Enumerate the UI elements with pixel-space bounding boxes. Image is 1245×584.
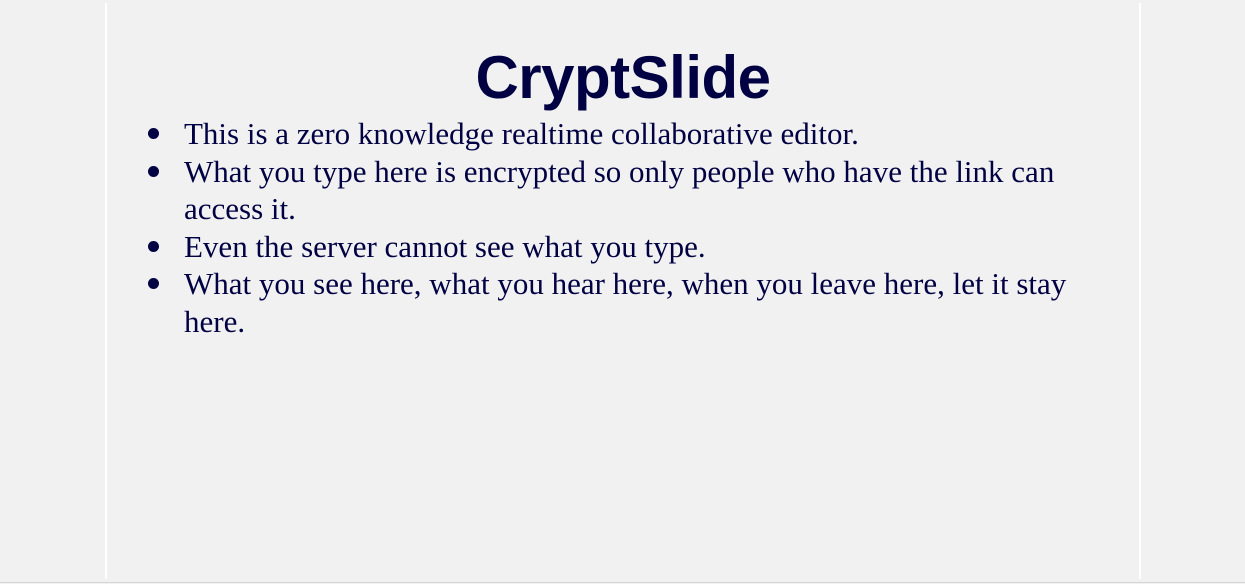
slide-canvas[interactable]: CryptSlide This is a zero knowledge real…: [107, 3, 1139, 579]
slide-right-edge: [1139, 3, 1141, 579]
bullet-text: What you see here, what you hear here, w…: [184, 265, 1130, 340]
bullet-dot-icon: [148, 241, 159, 252]
bullet-text: What you type here is encrypted so only …: [184, 153, 1130, 228]
bullet-text: Even the server cannot see what you type…: [184, 228, 1130, 266]
list-item[interactable]: What you see here, what you hear here, w…: [140, 265, 1130, 340]
list-item[interactable]: This is a zero knowledge realtime collab…: [140, 115, 1130, 153]
bullet-dot-icon: [148, 278, 159, 289]
bullet-dot-icon: [148, 166, 159, 177]
slide-body[interactable]: This is a zero knowledge realtime collab…: [140, 115, 1130, 341]
presentation-stage: CryptSlide This is a zero knowledge real…: [0, 0, 1245, 584]
bullet-dot-icon: [148, 128, 159, 139]
list-item[interactable]: Even the server cannot see what you type…: [140, 228, 1130, 266]
bullet-text: This is a zero knowledge realtime collab…: [184, 115, 1130, 153]
bullet-list: This is a zero knowledge realtime collab…: [140, 115, 1130, 341]
list-item[interactable]: What you type here is encrypted so only …: [140, 153, 1130, 228]
slide-title[interactable]: CryptSlide: [107, 43, 1139, 113]
viewport-bottom-rule: [0, 582, 1245, 583]
